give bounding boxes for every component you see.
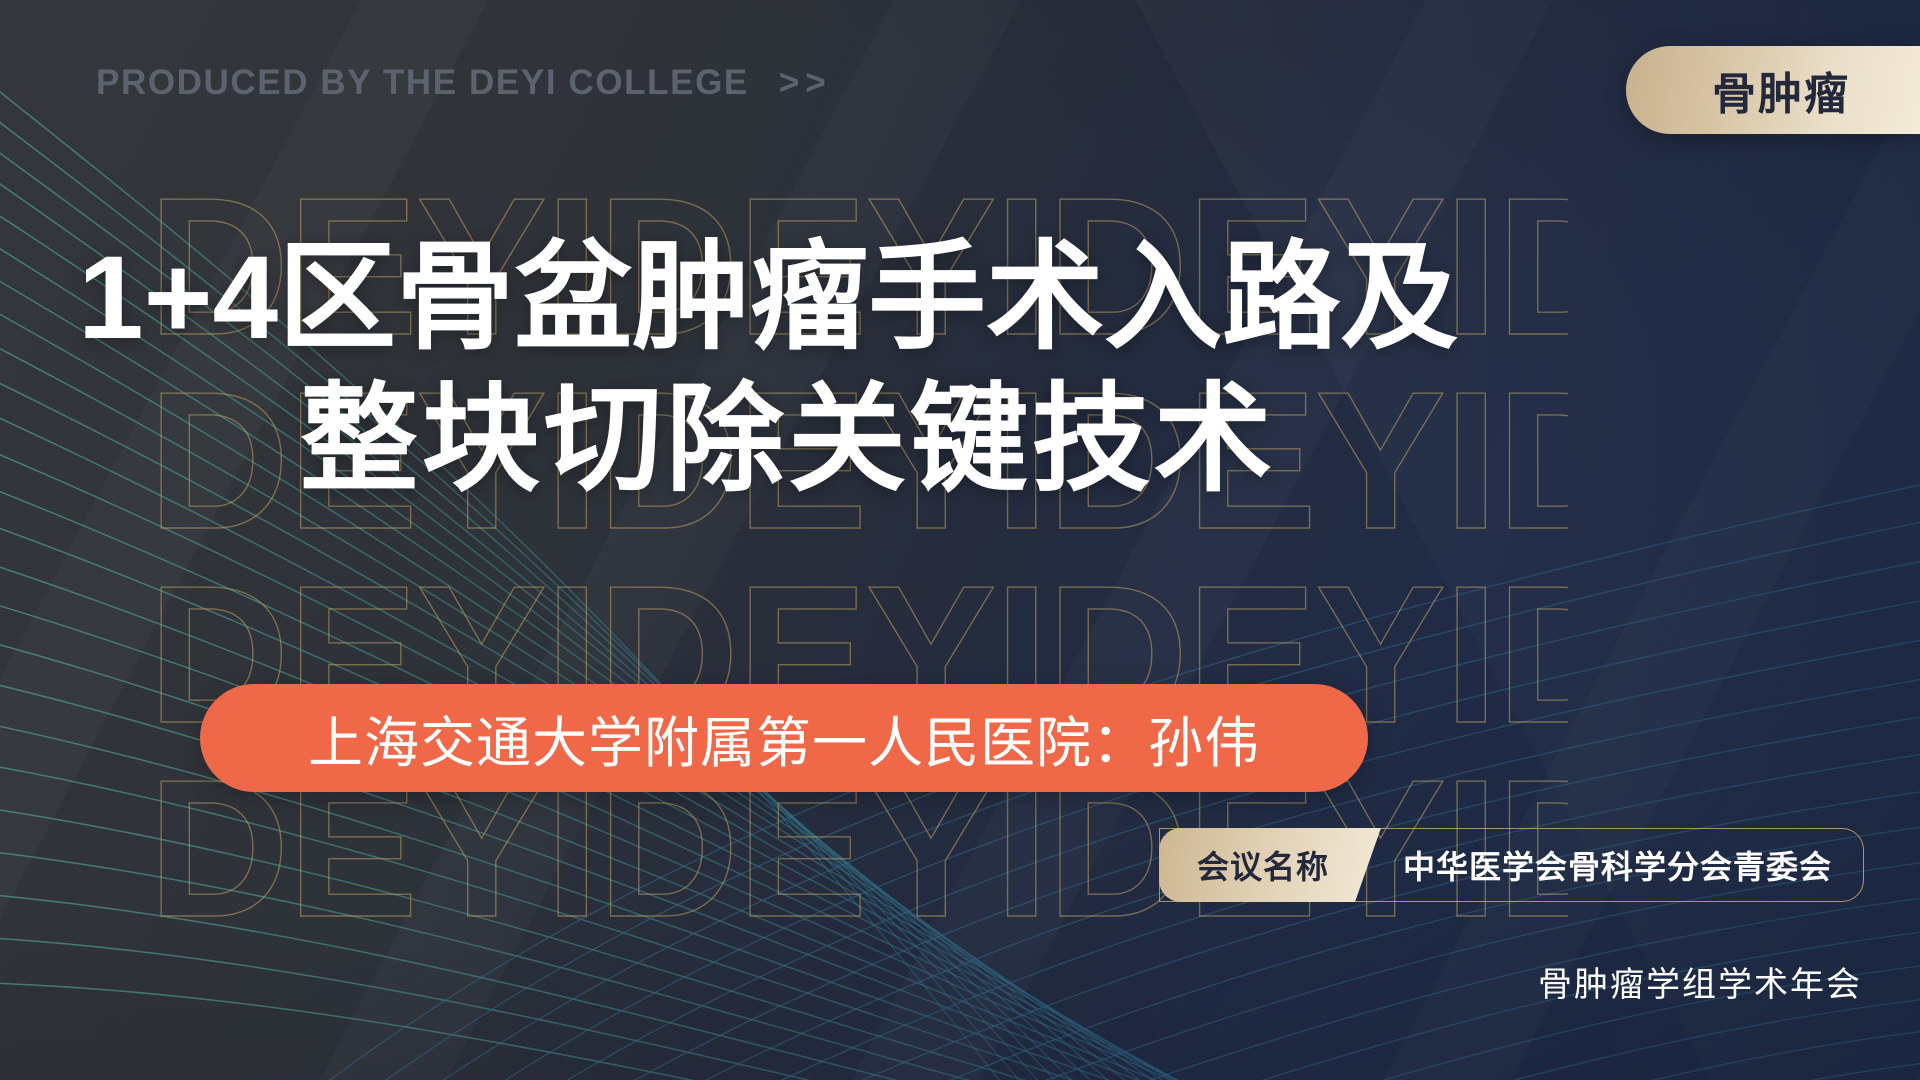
producer-label: PRODUCED BY THE DEYI COLLEGE	[96, 63, 749, 103]
conference-value: 中华医学会骨科学分会青委会	[1381, 828, 1864, 902]
topic-tag: 骨肿瘤	[1626, 46, 1920, 134]
topic-tag-label: 骨肿瘤	[1712, 58, 1850, 122]
header-eyebrow: PRODUCED BY THE DEYI COLLEGE >>	[96, 63, 832, 103]
page-title: 1+4区骨盆肿瘤手术入路及 整块切除关键技术	[78, 228, 1558, 511]
title-line-2: 整块切除关键技术	[78, 370, 1558, 512]
conference-name-text: 中华医学会骨科学分会青委会	[1403, 842, 1832, 888]
presentation-slide: DEYIDEYIDEYIDEYI DEYIDEYIDEYIDEYI DEYIDE…	[0, 0, 1920, 1080]
background-vignette	[0, 0, 1920, 1080]
conference-subtitle-text: 骨肿瘤学组学术年会	[1538, 966, 1862, 1004]
conference-label-chip: 会议名称	[1159, 828, 1381, 902]
speaker-affiliation-and-name: 上海交通大学附属第一人民医院：孙伟	[308, 698, 1260, 778]
conference-subtitle: 骨肿瘤学组学术年会	[1538, 957, 1862, 1006]
conference-name-block: 会议名称 中华医学会骨科学分会青委会	[1159, 828, 1864, 902]
double-chevron-right-icon: >>	[779, 63, 832, 103]
speaker-banner: 上海交通大学附属第一人民医院：孙伟	[200, 684, 1368, 792]
title-line-1: 1+4区骨盆肿瘤手术入路及	[78, 228, 1558, 370]
conference-label-text: 会议名称	[1197, 842, 1329, 888]
